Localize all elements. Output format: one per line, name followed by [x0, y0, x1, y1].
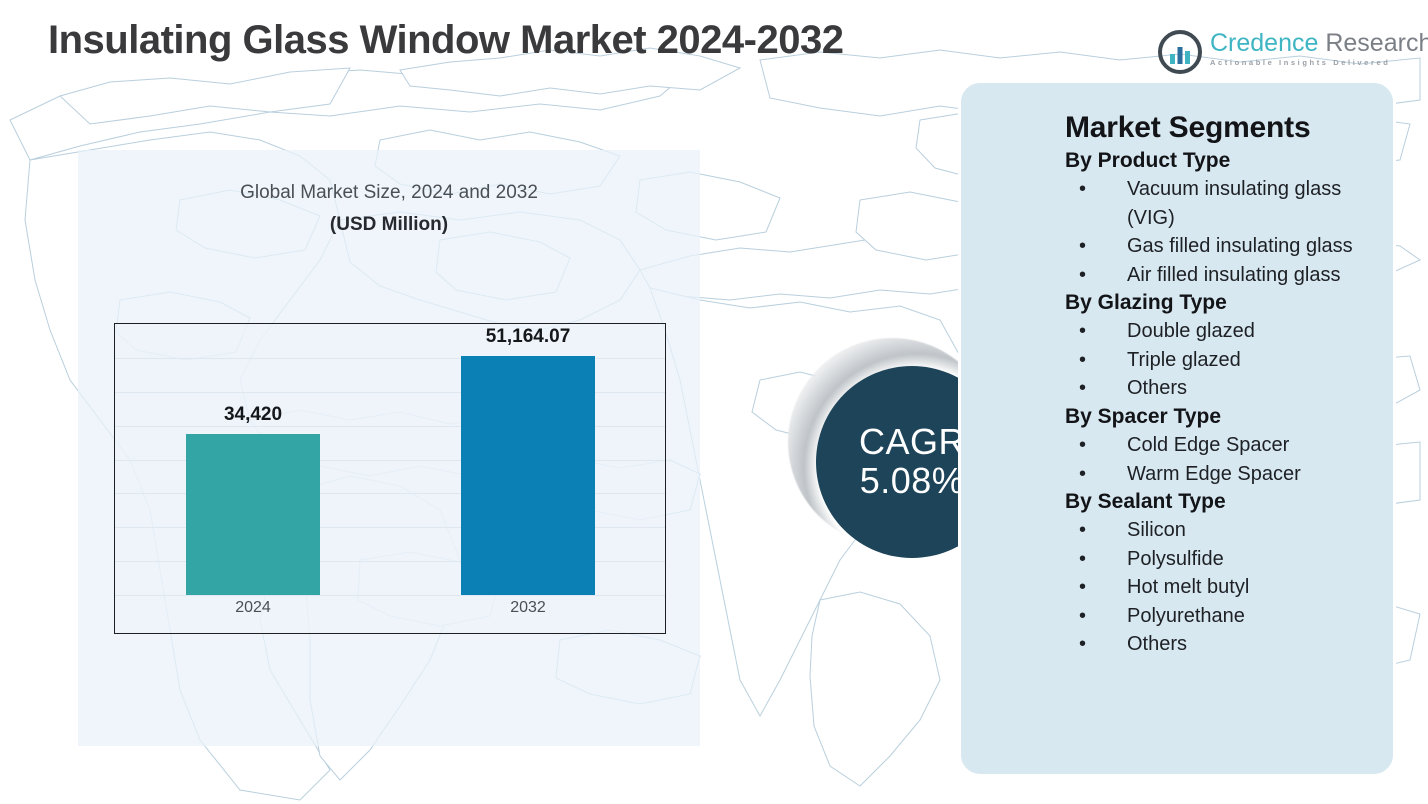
- segment-item-label: Warm Edge Spacer: [1127, 463, 1301, 485]
- segment-item-label: Others: [1127, 377, 1187, 399]
- logo-company-name: Credence Research: [1210, 30, 1428, 57]
- segment-item-label: Gas filled insulating glass: [1127, 235, 1353, 257]
- segment-item: •Gas filled insulating glass: [1065, 232, 1375, 261]
- logo-tagline: Actionable Insights Delivered: [1210, 58, 1428, 67]
- segment-item: •Silicon: [1065, 516, 1375, 545]
- bullet-icon: •: [1079, 460, 1086, 489]
- segment-item-label: Silicon: [1127, 519, 1186, 541]
- chart-title-line2: (USD Million): [78, 214, 700, 236]
- segment-item-label: Double glazed: [1127, 320, 1255, 342]
- bar-chart: 34,42051,164.07 20242032: [114, 323, 666, 634]
- segment-item: •Others: [1065, 374, 1375, 403]
- segment-item: •Others: [1065, 630, 1375, 659]
- segment-group-title: By Sealant Type: [1065, 488, 1375, 516]
- bullet-icon: •: [1079, 374, 1086, 403]
- segment-group-title: By Product Type: [1065, 147, 1375, 175]
- segments-heading: Market Segments: [1065, 111, 1375, 145]
- segment-item: •Warm Edge Spacer: [1065, 460, 1375, 489]
- segment-item-label: Air filled insulating glass: [1127, 264, 1340, 286]
- segment-item-label: Others: [1127, 633, 1187, 655]
- segment-group-title: By Spacer Type: [1065, 403, 1375, 431]
- brand-logo: Credence Research Actionable Insights De…: [1158, 28, 1398, 80]
- logo-text: Credence Research Actionable Insights De…: [1210, 30, 1428, 67]
- bar-value-label-2024: 34,420: [143, 404, 363, 426]
- bullet-icon: •: [1079, 516, 1086, 545]
- x-axis-label-2032: 2032: [448, 599, 608, 617]
- segment-item: •Double glazed: [1065, 317, 1375, 346]
- logo-name-primary: Credence: [1210, 29, 1318, 57]
- cagr-value: 5.08%: [860, 462, 965, 501]
- chart-plot-area: 34,42051,164.07: [115, 324, 665, 595]
- segment-group-title: By Glazing Type: [1065, 289, 1375, 317]
- segment-item: •Air filled insulating glass: [1065, 261, 1375, 290]
- bullet-icon: •: [1079, 630, 1086, 659]
- bullet-icon: •: [1079, 232, 1086, 261]
- bullet-icon: •: [1079, 261, 1086, 290]
- segment-item-label: Vacuum insulating glass (VIG): [1127, 178, 1341, 229]
- segment-group-list: By Product Type•Vacuum insulating glass …: [1065, 147, 1375, 659]
- segment-item-label: Cold Edge Spacer: [1127, 434, 1289, 456]
- bullet-icon: •: [1079, 317, 1086, 346]
- segment-item-label: Hot melt butyl: [1127, 576, 1249, 598]
- bullet-icon: •: [1079, 431, 1086, 460]
- segment-item: •Polyurethane: [1065, 602, 1375, 631]
- segment-item: •Hot melt butyl: [1065, 573, 1375, 602]
- bullet-icon: •: [1079, 545, 1086, 574]
- bullet-icon: •: [1079, 573, 1086, 602]
- logo-name-secondary: Research: [1318, 29, 1428, 57]
- infographic-canvas: Insulating Glass Window Market 2024-2032…: [0, 0, 1428, 804]
- segment-item: •Vacuum insulating glass (VIG): [1065, 175, 1375, 232]
- bullet-icon: •: [1079, 175, 1086, 204]
- segment-item-label: Triple glazed: [1127, 349, 1241, 371]
- segment-item: •Triple glazed: [1065, 346, 1375, 375]
- cagr-label: CAGR: [859, 423, 965, 462]
- segment-item: •Polysulfide: [1065, 545, 1375, 574]
- bar-chart-logo-icon: [1158, 30, 1202, 74]
- bar-2032: [461, 356, 595, 595]
- chart-title-line1: Global Market Size, 2024 and 2032: [78, 182, 700, 204]
- segment-item-label: Polysulfide: [1127, 548, 1224, 570]
- bar-value-label-2032: 51,164.07: [418, 326, 638, 348]
- market-segments-content: Market Segments By Product Type•Vacuum i…: [961, 83, 1393, 669]
- market-segments-panel: Market Segments By Product Type•Vacuum i…: [958, 80, 1396, 777]
- bar-2024: [186, 434, 320, 595]
- page-title: Insulating Glass Window Market 2024-2032: [48, 18, 843, 63]
- segment-item: •Cold Edge Spacer: [1065, 431, 1375, 460]
- bullet-icon: •: [1079, 602, 1086, 631]
- bullet-icon: •: [1079, 346, 1086, 375]
- x-axis-label-2024: 2024: [173, 599, 333, 617]
- segment-item-label: Polyurethane: [1127, 605, 1245, 627]
- chart-baseline: [115, 595, 665, 596]
